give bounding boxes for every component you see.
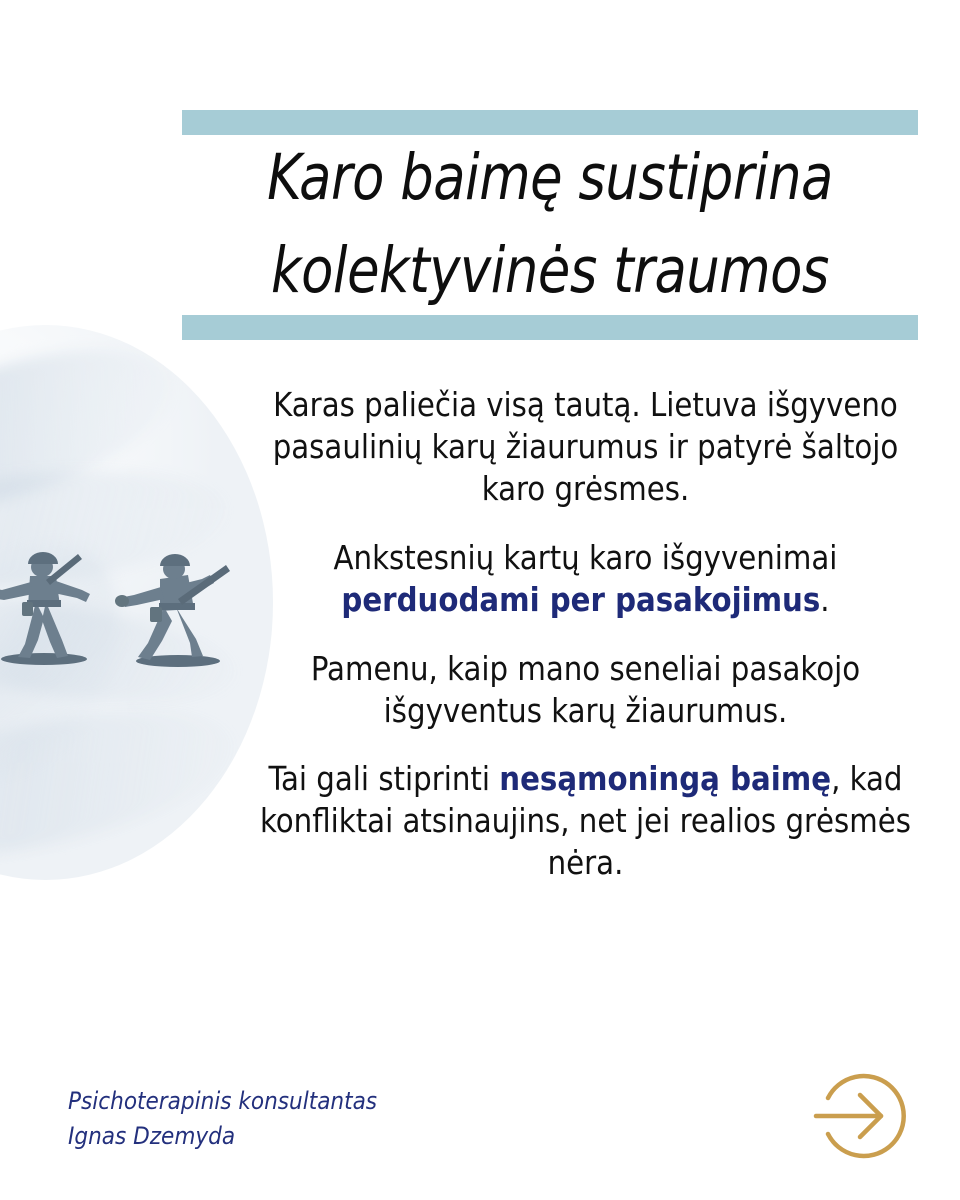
- paragraph-4: Tai gali stiprinti nesąmoningą baimę, ka…: [258, 759, 913, 885]
- body-copy: Karas paliečia visą tautą. Lietuva išgyv…: [258, 385, 913, 885]
- arrow-right-circle-icon: [806, 1062, 914, 1170]
- paragraph-2: Ankstesnių kartų karo išgyvenimai perduo…: [258, 538, 913, 622]
- plain-text: Ankstesnių kartų karo išgyvenimai: [334, 539, 838, 577]
- paragraph-3: Pamenu, kaip mano seneliai pasakojo išgy…: [258, 649, 913, 733]
- byline-name: Ignas Dzemyda: [68, 1119, 498, 1154]
- plain-text: Tai gali stiprinti: [269, 760, 500, 798]
- toy-soldier-grenadier-icon: [0, 540, 108, 670]
- toy-soldiers-photo: [0, 325, 273, 880]
- page-title: Karo baimę sustiprina kolektyvinės traum…: [208, 132, 892, 317]
- toy-soldier-rifleman-icon: [108, 543, 238, 673]
- plain-text: .: [820, 581, 829, 619]
- byline: Psichoterapinis konsultantas Ignas Dzemy…: [68, 1084, 498, 1154]
- accent-bar-bottom: [182, 315, 918, 340]
- post-canvas: Karo baimę sustiprina kolektyvinės traum…: [0, 0, 960, 1200]
- next-slide-button[interactable]: [806, 1062, 914, 1170]
- byline-role: Psichoterapinis konsultantas: [68, 1084, 498, 1119]
- paragraph-1: Karas paliečia visą tautą. Lietuva išgyv…: [258, 385, 913, 511]
- page-title-line-2: kolektyvinės traumos: [208, 225, 892, 318]
- page-title-line-1: Karo baimę sustiprina: [208, 132, 892, 225]
- highlight-text: perduodami per pasakojimus: [341, 581, 820, 619]
- plain-text: Karas paliečia visą tautą. Lietuva išgyv…: [273, 386, 899, 508]
- highlight-text: nesąmoningą baimę: [499, 760, 831, 798]
- plain-text: Pamenu, kaip mano seneliai pasakojo išgy…: [311, 650, 860, 730]
